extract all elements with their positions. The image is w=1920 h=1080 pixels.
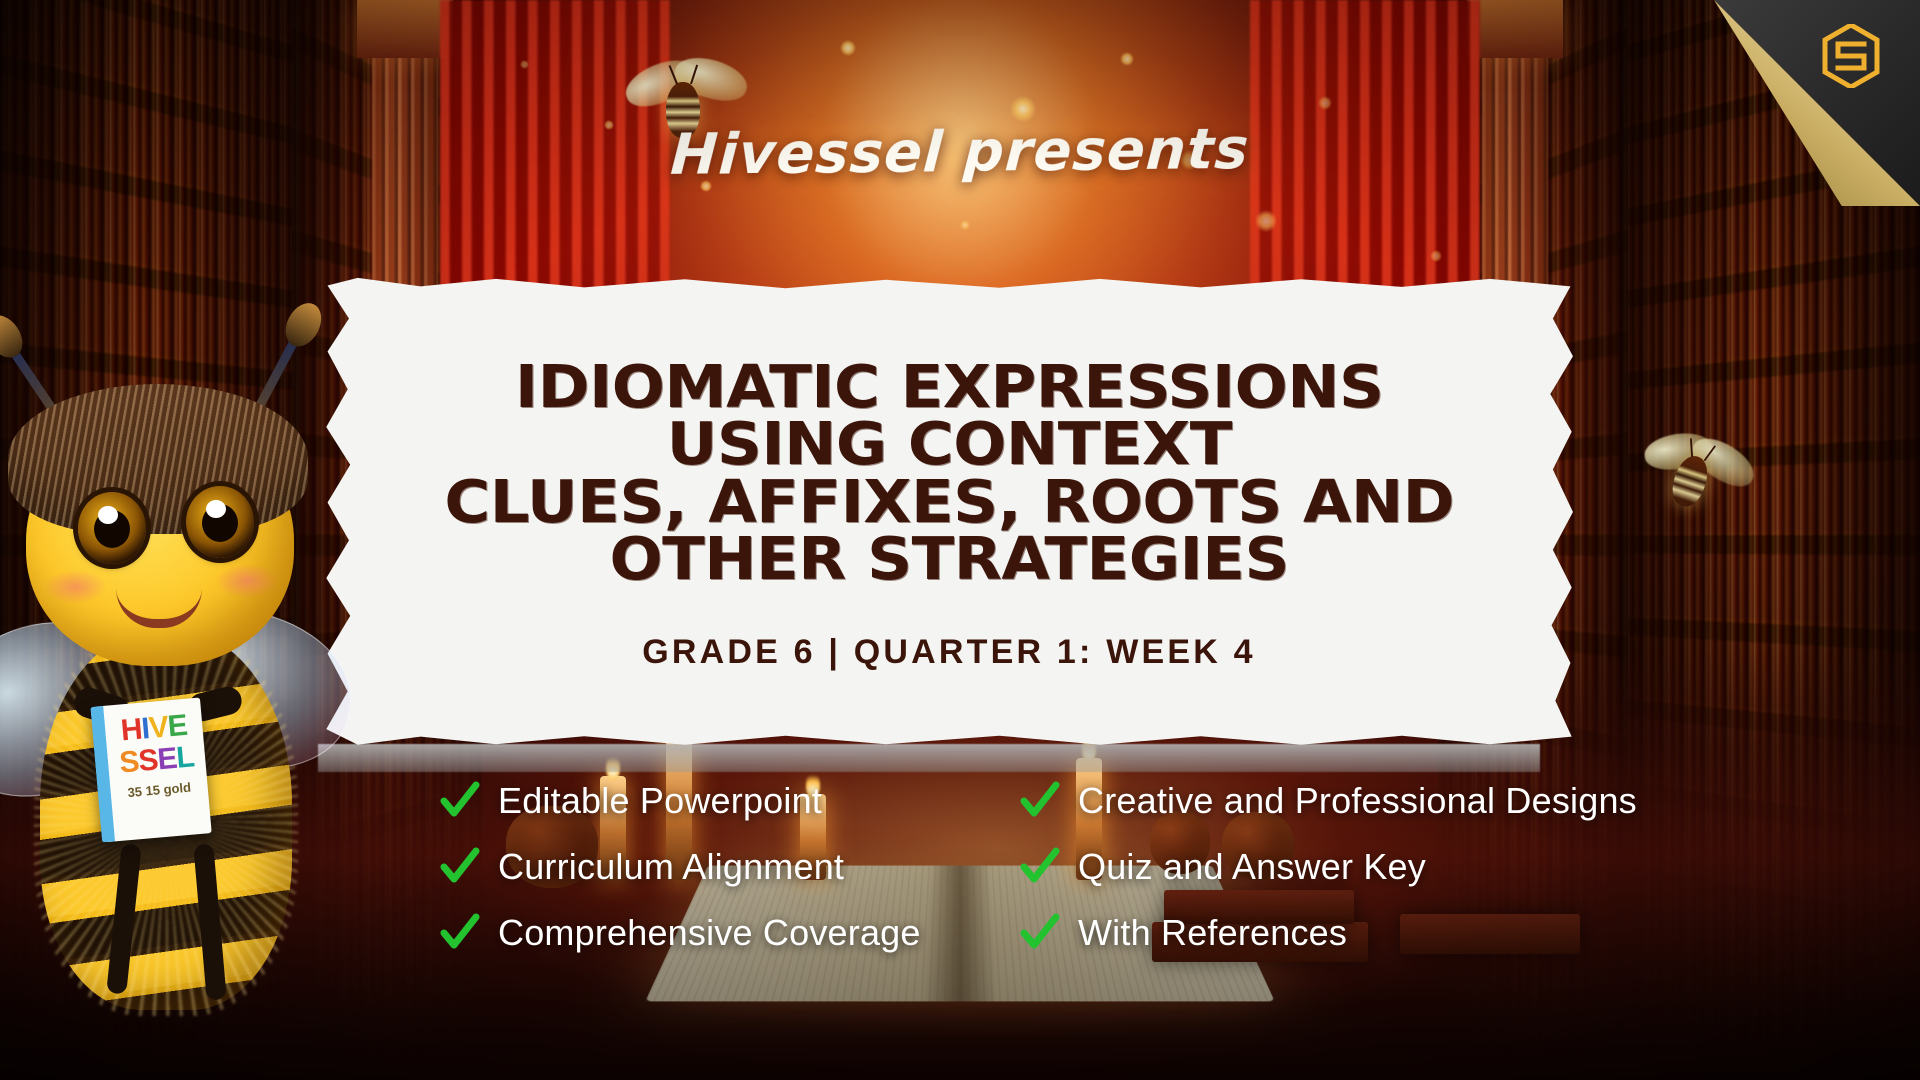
sparkle — [840, 40, 856, 56]
title-line-3: CLUES, AFFIXES, ROOTS AND — [444, 473, 1454, 530]
feature-label: Editable Powerpoint — [498, 780, 822, 822]
mascot-blush-right — [216, 564, 278, 598]
title-line-1: IDIOMATIC EXPRESSIONS — [444, 358, 1454, 415]
grade-quarter-week-subtitle: GRADE 6 | QUARTER 1: WEEK 4 — [642, 633, 1256, 672]
check-icon — [1020, 913, 1060, 953]
mascot-book: HIVE SSEL 35 15 gold — [90, 697, 211, 842]
check-icon — [440, 781, 480, 821]
title-line-2: USING CONTEXT — [444, 415, 1454, 472]
list-item: Editable Powerpoint — [440, 780, 960, 822]
mascot-hair — [8, 384, 308, 534]
book-subtitle: 35 15 gold — [110, 779, 208, 800]
feature-label: Comprehensive Coverage — [498, 912, 921, 954]
list-item: Curriculum Alignment — [440, 846, 960, 888]
feature-label: Quiz and Answer Key — [1078, 846, 1426, 888]
feature-label: With References — [1078, 912, 1347, 954]
title-card: IDIOMATIC EXPRESSIONS USING CONTEXT CLUE… — [320, 276, 1578, 748]
feature-label: Creative and Professional Designs — [1078, 780, 1637, 822]
mascot-eye-left — [78, 492, 146, 564]
bee-mascot: HIVE SSEL 35 15 gold — [0, 374, 444, 1080]
check-icon — [440, 847, 480, 887]
sparkle — [1430, 250, 1442, 262]
slide-canvas: Hivessel presents IDIOMATIC EXPRESSIONS … — [0, 0, 1920, 1080]
pillar-cap-right — [1467, 0, 1563, 58]
sparkle — [960, 220, 970, 230]
check-icon — [440, 913, 480, 953]
card-shadow-band — [318, 744, 1540, 772]
pillar-cap-left — [357, 0, 453, 58]
check-icon — [1020, 847, 1060, 887]
page-title: IDIOMATIC EXPRESSIONS USING CONTEXT CLUE… — [444, 358, 1454, 587]
sparkle — [1010, 96, 1036, 122]
book-title-line-2: SSEL — [107, 741, 206, 779]
feature-label: Curriculum Alignment — [498, 846, 844, 888]
mascot-blush-left — [44, 570, 106, 604]
feature-list: Editable Powerpoint Creative and Profess… — [440, 780, 1860, 954]
sparkle — [1255, 210, 1277, 232]
list-item: Quiz and Answer Key — [1020, 846, 1860, 888]
list-item: Comprehensive Coverage — [440, 912, 960, 954]
list-item: Creative and Professional Designs — [1020, 780, 1860, 822]
sparkle — [520, 60, 529, 69]
sparkle — [1120, 52, 1134, 66]
check-icon — [1020, 781, 1060, 821]
title-line-4: OTHER STRATEGIES — [444, 530, 1454, 587]
sparkle — [1318, 96, 1332, 110]
hexagon-logo-icon[interactable] — [1822, 24, 1880, 88]
list-item: With References — [1020, 912, 1860, 954]
mascot-eye-right — [186, 486, 254, 558]
